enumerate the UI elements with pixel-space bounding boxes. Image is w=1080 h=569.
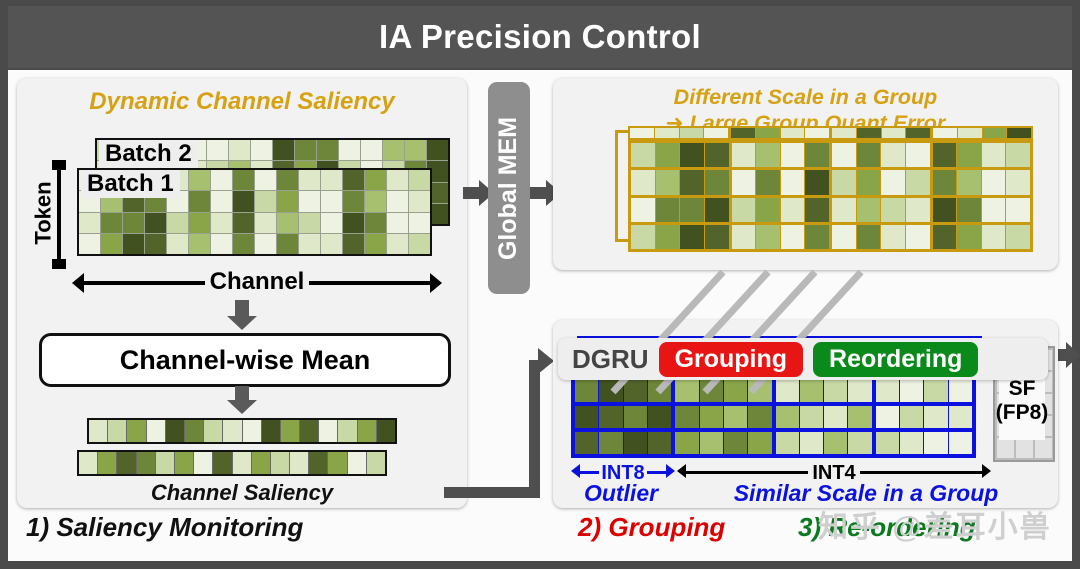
heat-cell xyxy=(223,420,241,442)
heat-cell xyxy=(409,213,430,233)
heat-cell xyxy=(705,143,729,167)
matrix-group xyxy=(776,406,872,428)
heat-cell xyxy=(848,432,871,454)
heat-cell xyxy=(857,198,881,222)
heat-cell xyxy=(982,198,1006,222)
scale-cell xyxy=(1007,128,1031,138)
heat-cell xyxy=(924,406,947,428)
heat-cell xyxy=(648,380,671,402)
outlier-label: Outlier xyxy=(561,480,681,507)
heat-cell xyxy=(300,420,318,442)
heat-cell xyxy=(732,170,756,194)
heat-cell xyxy=(1006,225,1030,249)
gold-matrix-scale-strip xyxy=(628,126,1033,140)
heat-cell xyxy=(233,191,254,211)
heat-cell xyxy=(748,380,771,402)
scale-cell xyxy=(958,128,982,138)
heat-cell xyxy=(367,452,385,474)
heat-cell xyxy=(881,225,905,249)
heat-cell xyxy=(756,143,780,167)
heat-cell xyxy=(277,191,298,211)
heat-cell xyxy=(145,234,166,254)
heat-cell xyxy=(924,380,947,402)
channel-axis: Channel xyxy=(72,268,442,298)
heat-cell xyxy=(361,140,382,160)
heat-cell xyxy=(123,213,144,233)
matrix-group xyxy=(575,432,671,454)
heat-cell xyxy=(705,225,729,249)
heat-cell xyxy=(409,170,430,190)
watermark: 知乎 @差耳小兽 xyxy=(818,502,1052,546)
heat-cell xyxy=(656,143,680,167)
heat-cell xyxy=(409,191,430,211)
matrix-group xyxy=(575,406,671,428)
matrix-group xyxy=(832,143,930,167)
heat-cell xyxy=(648,406,671,428)
heat-cell xyxy=(781,198,805,222)
heat-cell xyxy=(906,198,930,222)
token-axis-label: Token xyxy=(27,163,61,263)
heat-cell xyxy=(167,213,188,233)
heat-cell xyxy=(137,452,155,474)
heat-cell xyxy=(776,380,799,402)
matrix-group xyxy=(575,380,671,402)
heat-cell xyxy=(748,432,771,454)
caption-grouping: 2) Grouping xyxy=(578,512,725,543)
heat-cell xyxy=(156,452,174,474)
matrix-group xyxy=(675,380,771,402)
heat-cell xyxy=(933,170,957,194)
heat-cell xyxy=(900,380,923,402)
scale-cell xyxy=(983,128,1007,138)
heat-cell xyxy=(824,406,847,428)
scale-cell xyxy=(832,128,856,138)
heat-cell xyxy=(732,143,756,167)
matrix-group xyxy=(631,170,729,194)
heat-cell xyxy=(599,406,622,428)
heat-cell xyxy=(724,406,747,428)
heat-cell xyxy=(924,432,947,454)
heat-cell xyxy=(675,432,698,454)
heat-cell xyxy=(89,420,107,442)
heat-cell xyxy=(624,406,647,428)
heat-cell xyxy=(79,452,97,474)
heat-cell xyxy=(145,213,166,233)
matrix-group xyxy=(732,143,830,167)
heat-cell xyxy=(675,406,698,428)
scale-cell xyxy=(704,128,728,138)
heat-cell xyxy=(295,140,316,160)
heat-cell xyxy=(117,452,135,474)
heat-cell xyxy=(748,406,771,428)
heat-cell xyxy=(881,198,905,222)
heat-cell xyxy=(680,170,704,194)
heat-cell xyxy=(724,380,747,402)
heat-cell xyxy=(211,213,232,233)
heat-cell xyxy=(365,191,386,211)
heat-cell xyxy=(776,432,799,454)
heat-cell xyxy=(705,170,729,194)
heat-cell xyxy=(317,140,338,160)
heat-cell xyxy=(800,380,823,402)
heat-cell xyxy=(800,406,823,428)
heat-cell xyxy=(321,234,342,254)
arrow-to-mean xyxy=(227,300,257,330)
heat-cell xyxy=(167,234,188,254)
heat-cell xyxy=(805,198,829,222)
batch1-label: Batch 1 xyxy=(81,170,180,198)
heat-cell xyxy=(348,452,366,474)
heat-cell xyxy=(309,452,327,474)
heat-cell xyxy=(824,432,847,454)
global-mem-block: Global MEM xyxy=(488,82,530,294)
scale-cell xyxy=(756,128,780,138)
heat-cell xyxy=(229,140,250,160)
heat-cell xyxy=(631,225,655,249)
grouping-badge[interactable]: Grouping xyxy=(659,342,803,377)
heat-cell xyxy=(1006,170,1030,194)
heat-cell xyxy=(957,225,981,249)
heat-cell xyxy=(624,380,647,402)
matrix-group xyxy=(832,198,930,222)
matrix-group xyxy=(631,225,729,249)
heat-cell xyxy=(756,198,780,222)
heat-cell xyxy=(343,170,364,190)
heat-cell xyxy=(848,406,871,428)
heat-cell xyxy=(383,140,404,160)
matrix-group xyxy=(732,198,830,222)
sf-format: (FP8) xyxy=(996,401,1049,425)
heat-cell xyxy=(957,198,981,222)
heat-cell xyxy=(277,170,298,190)
heat-cell xyxy=(189,170,210,190)
heat-cell xyxy=(387,170,408,190)
heat-cell xyxy=(599,380,622,402)
heat-cell xyxy=(575,406,598,428)
heat-cell xyxy=(982,170,1006,194)
heat-cell xyxy=(1006,143,1030,167)
heat-cell xyxy=(409,234,430,254)
scale-group xyxy=(933,128,1031,138)
heat-cell xyxy=(233,213,254,233)
grouping-error-panel: Different Scale in a Group ➜ Large Group… xyxy=(553,78,1058,270)
heat-cell xyxy=(824,380,847,402)
heat-cell xyxy=(255,191,276,211)
matrix-group xyxy=(776,432,872,454)
heat-cell xyxy=(680,198,704,222)
heat-cell xyxy=(656,170,680,194)
heat-cell xyxy=(631,198,655,222)
heat-cell xyxy=(949,432,972,454)
grouped-matrix xyxy=(628,140,1033,252)
heat-cell xyxy=(233,452,251,474)
heat-cell xyxy=(906,170,930,194)
heat-cell xyxy=(213,452,231,474)
heat-cell xyxy=(427,140,448,160)
diagram-root: IA Precision Control Dynamic Channel Sal… xyxy=(0,0,1080,569)
heat-cell xyxy=(299,191,320,211)
heat-cell xyxy=(949,406,972,428)
heat-cell xyxy=(358,420,376,442)
heat-cell xyxy=(185,420,203,442)
heat-cell xyxy=(631,143,655,167)
heat-cell xyxy=(906,143,930,167)
heat-cell xyxy=(211,234,232,254)
heat-cell xyxy=(299,170,320,190)
heat-cell xyxy=(857,170,881,194)
diagram-canvas: Dynamic Channel Saliency Token Batch 2 B… xyxy=(8,70,1072,561)
heat-cell xyxy=(255,234,276,254)
token-arrow-down xyxy=(52,259,66,269)
heat-cell xyxy=(299,213,320,233)
heat-cell xyxy=(255,170,276,190)
matrix-group xyxy=(732,225,830,249)
heat-cell xyxy=(123,234,144,254)
heat-cell xyxy=(832,225,856,249)
heat-cell xyxy=(377,420,395,442)
channel-axis-label: Channel xyxy=(72,268,442,296)
matrix-group xyxy=(933,143,1031,167)
heat-cell xyxy=(189,191,210,211)
heat-cell xyxy=(648,432,671,454)
heat-cell xyxy=(982,225,1006,249)
heat-cell xyxy=(321,170,342,190)
heat-cell xyxy=(387,191,408,211)
heat-cell xyxy=(756,225,780,249)
heat-cell xyxy=(387,213,408,233)
heat-cell xyxy=(365,213,386,233)
channel-saliency-strip-top xyxy=(87,418,397,444)
heat-cell xyxy=(900,432,923,454)
heat-cell xyxy=(881,143,905,167)
matrix-group xyxy=(876,432,972,454)
heat-cell xyxy=(365,170,386,190)
scale-group xyxy=(832,128,930,138)
matrix-group xyxy=(876,380,972,402)
arrow-into-global-mem xyxy=(463,180,491,206)
heat-cell xyxy=(732,225,756,249)
heat-cell xyxy=(599,432,622,454)
heat-cell xyxy=(575,432,598,454)
scale-group xyxy=(731,128,829,138)
heat-cell xyxy=(175,452,193,474)
heat-cell xyxy=(338,420,356,442)
heat-cell xyxy=(876,380,899,402)
heat-cell xyxy=(194,452,212,474)
heat-cell xyxy=(624,432,647,454)
matrix-group xyxy=(876,406,972,428)
heat-cell xyxy=(321,213,342,233)
matrix-group xyxy=(933,198,1031,222)
heat-cell xyxy=(781,225,805,249)
arrow-saliency-to-dgru xyxy=(444,348,564,498)
heat-cell xyxy=(957,143,981,167)
matrix-group xyxy=(732,170,830,194)
heat-cell xyxy=(900,406,923,428)
heat-cell xyxy=(281,420,299,442)
heat-cell xyxy=(204,420,222,442)
heat-cell xyxy=(243,420,261,442)
heat-cell xyxy=(776,406,799,428)
heat-cell xyxy=(328,452,346,474)
heat-cell xyxy=(705,198,729,222)
heat-cell xyxy=(101,234,122,254)
heat-cell xyxy=(166,420,184,442)
scale-cell xyxy=(906,128,930,138)
heat-cell xyxy=(906,225,930,249)
heat-cell xyxy=(933,198,957,222)
title-bar: IA Precision Control xyxy=(8,6,1072,68)
heat-cell xyxy=(800,432,823,454)
heat-cell xyxy=(700,406,723,428)
matrix-group xyxy=(631,143,729,167)
matrix-group xyxy=(776,380,872,402)
scale-cell xyxy=(857,128,881,138)
dynamic-channel-saliency-header: Dynamic Channel Saliency xyxy=(17,88,467,116)
heat-cell xyxy=(262,420,280,442)
heat-cell xyxy=(881,170,905,194)
heat-cell xyxy=(982,143,1006,167)
reordering-badge[interactable]: Reordering xyxy=(813,342,978,377)
scale-cell xyxy=(805,128,829,138)
heat-cell xyxy=(233,234,254,254)
heat-cell xyxy=(857,225,881,249)
scale-cell xyxy=(680,128,704,138)
heat-cell xyxy=(933,225,957,249)
matrix-group xyxy=(675,406,771,428)
matrix-group xyxy=(832,170,930,194)
heat-cell xyxy=(857,143,881,167)
dgru-bar: DGRU Grouping Reordering xyxy=(558,338,1048,380)
scale-cell xyxy=(655,128,679,138)
heat-cell xyxy=(343,191,364,211)
channel-saliency-label: Channel Saliency xyxy=(17,480,467,506)
heat-cell xyxy=(365,234,386,254)
heat-cell xyxy=(656,225,680,249)
heat-cell xyxy=(189,213,210,233)
heat-cell xyxy=(108,420,126,442)
title-line-1: Different Scale in a Group xyxy=(553,84,1058,110)
heat-cell xyxy=(933,143,957,167)
heat-cell xyxy=(251,140,272,160)
batch2-label: Batch 2 xyxy=(99,140,198,168)
heat-cell xyxy=(876,406,899,428)
heat-cell xyxy=(675,380,698,402)
scale-cell xyxy=(731,128,755,138)
heat-cell xyxy=(405,140,426,160)
heat-cell xyxy=(79,213,100,233)
heat-cell xyxy=(656,198,680,222)
heat-cell xyxy=(101,213,122,233)
heat-cell xyxy=(255,213,276,233)
heat-cell xyxy=(848,380,871,402)
heat-cell xyxy=(805,170,829,194)
heat-cell xyxy=(832,198,856,222)
heat-cell xyxy=(781,143,805,167)
heat-cell xyxy=(700,380,723,402)
channel-wise-mean-box: Channel-wise Mean xyxy=(39,333,451,387)
heat-cell xyxy=(98,452,116,474)
saliency-monitoring-panel: Dynamic Channel Saliency Token Batch 2 B… xyxy=(17,78,467,508)
heat-cell xyxy=(631,170,655,194)
scale-cell xyxy=(781,128,805,138)
heat-cell xyxy=(211,170,232,190)
heat-cell xyxy=(299,234,320,254)
heat-cell xyxy=(832,170,856,194)
channel-saliency-strip-bottom xyxy=(77,450,387,476)
heat-cell xyxy=(79,234,100,254)
heat-cell xyxy=(273,140,294,160)
heat-cell xyxy=(700,432,723,454)
heat-cell xyxy=(277,234,298,254)
heat-cell xyxy=(387,234,408,254)
heat-cell xyxy=(233,170,254,190)
matrix-group xyxy=(933,225,1031,249)
heat-cell xyxy=(756,170,780,194)
heat-cell xyxy=(207,140,228,160)
matrix-group xyxy=(675,432,771,454)
heat-cell xyxy=(321,191,342,211)
page-title: IA Precision Control xyxy=(379,18,701,56)
heat-cell xyxy=(211,191,232,211)
heat-cell xyxy=(271,452,289,474)
heat-cell xyxy=(680,143,704,167)
heat-cell xyxy=(575,380,598,402)
heat-cell xyxy=(189,234,210,254)
heat-cell xyxy=(343,234,364,254)
matrix-group xyxy=(933,170,1031,194)
heat-cell xyxy=(832,143,856,167)
heat-cell xyxy=(277,213,298,233)
scale-group xyxy=(630,128,728,138)
heat-cell xyxy=(1006,198,1030,222)
dgru-label: DGRU xyxy=(572,344,649,375)
heat-cell xyxy=(732,198,756,222)
heat-cell xyxy=(876,432,899,454)
heat-cell xyxy=(252,452,270,474)
heat-cell xyxy=(339,140,360,160)
matrix-group xyxy=(631,198,729,222)
heat-cell xyxy=(319,420,337,442)
arrow-to-saliency xyxy=(227,386,257,416)
sf-title: SF xyxy=(1009,377,1036,401)
token-axis-line xyxy=(57,168,61,260)
caption-saliency-monitoring: 1) Saliency Monitoring xyxy=(26,512,303,543)
heat-cell xyxy=(949,380,972,402)
heat-cell xyxy=(127,420,145,442)
heat-cell xyxy=(343,213,364,233)
heat-cell xyxy=(680,225,704,249)
heat-cell xyxy=(805,225,829,249)
heat-cell xyxy=(805,143,829,167)
heat-cell xyxy=(147,420,165,442)
scale-cell xyxy=(882,128,906,138)
scale-cell xyxy=(933,128,957,138)
heat-cell xyxy=(957,170,981,194)
heat-cell xyxy=(290,452,308,474)
matrix-group xyxy=(832,225,930,249)
heat-cell xyxy=(781,170,805,194)
heat-cell xyxy=(724,432,747,454)
scale-cell xyxy=(630,128,654,138)
